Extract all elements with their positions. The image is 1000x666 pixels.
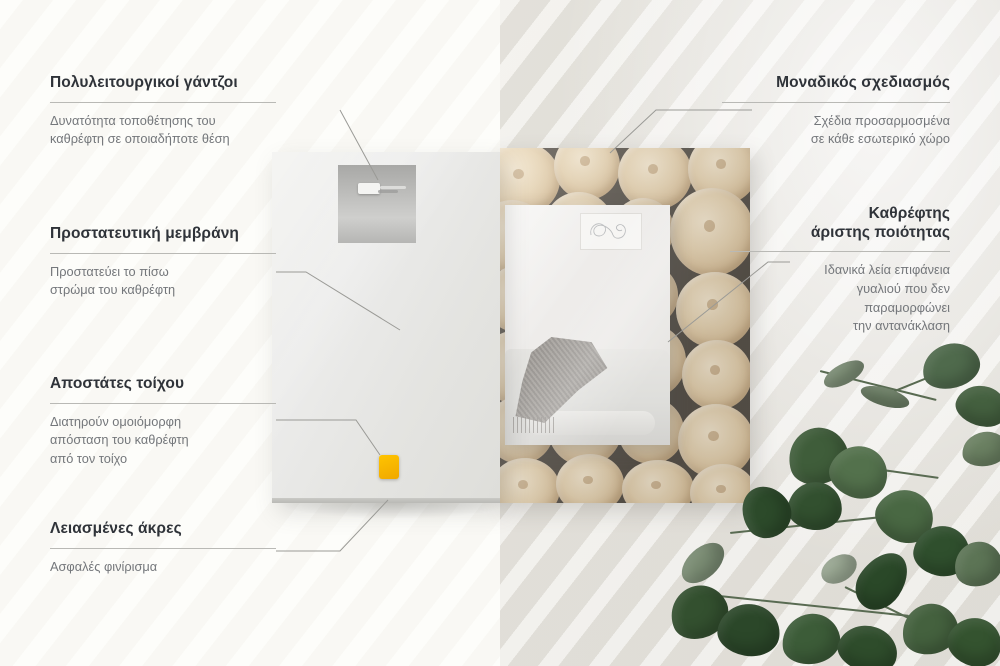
callout-spacers: Αποστάτες τοίχου Διατηρούν ομοιόμορφη απ…	[50, 375, 276, 469]
callout-quality-line4: την αντανάκλαση	[853, 318, 950, 333]
callout-spacers-line3: από τον τοίχο	[50, 451, 127, 466]
callout-quality-line2: γυαλιού που δεν	[857, 281, 950, 296]
callout-edges-body: Ασφαλές φινίρισμα	[50, 558, 276, 577]
callout-quality-line1: Ιδανικά λεία επιφάνεια	[824, 262, 950, 277]
callout-edges: Λειασμένες άκρες Ασφαλές φινίρισμα	[50, 520, 276, 576]
callout-hooks-line1: Δυνατότητα τοποθέτησης του	[50, 113, 216, 128]
callout-hooks-title: Πολυλειτουργικοί γάντζοι	[50, 74, 276, 93]
callout-hooks-body: Δυνατότητα τοποθέτησης του καθρέφτη σε ο…	[50, 112, 276, 149]
callout-quality: Καθρέφτης άριστης ποιότητας Ιδανικά λεία…	[730, 205, 950, 336]
callout-quality-line3: παραμορφώνει	[864, 300, 950, 315]
callout-design-line2: σε κάθε εσωτερικό χώρο	[811, 131, 950, 146]
callout-design-title: Μοναδικός σχεδιασμός	[722, 74, 950, 93]
callout-spacers-body: Διατηρούν ομοιόμορφη απόσταση του καθρέφ…	[50, 413, 276, 469]
mirror-sheen	[505, 205, 670, 445]
callout-edges-line1: Ασφαλές φινίρισμα	[50, 559, 157, 574]
callout-spacers-rule	[50, 403, 276, 404]
callout-membrane-rule	[50, 253, 276, 254]
foliage-decoration	[670, 336, 1000, 666]
callout-membrane-line2: στρώμα του καθρέφτη	[50, 282, 175, 297]
callout-quality-title-line1: Καθρέφτης	[869, 205, 950, 222]
callout-spacers-title: Αποστάτες τοίχου	[50, 375, 276, 394]
callout-membrane-line1: Προστατεύει το πίσω	[50, 264, 169, 279]
panel-drop-shadow	[278, 503, 510, 519]
callout-design-line1: Σχέδια προσαρμοσμένα	[814, 113, 950, 128]
callout-membrane-title: Προστατευτική μεμβράνη	[50, 225, 276, 244]
callout-hooks-rule	[50, 102, 276, 103]
callout-spacers-line2: απόσταση του καθρέφτη	[50, 432, 189, 447]
callout-edges-rule	[50, 548, 276, 549]
callout-design-body: Σχέδια προσαρμοσμένα σε κάθε εσωτερικό χ…	[722, 112, 950, 149]
callout-membrane: Προστατευτική μεμβράνη Προστατεύει το πί…	[50, 225, 276, 300]
callout-quality-body: Ιδανικά λεία επιφάνεια γυαλιού που δεν π…	[730, 261, 950, 336]
hook-detail-plate	[338, 165, 416, 243]
hook-arm-shadow-icon	[378, 190, 398, 193]
hook-arm-icon	[380, 186, 406, 189]
callout-quality-title: Καθρέφτης άριστης ποιότητας	[730, 205, 950, 242]
callout-design-rule	[722, 102, 950, 103]
infographic-canvas: Πολυλειτουργικοί γάντζοι Δυνατότητα τοπο…	[0, 0, 1000, 666]
callout-quality-title-line2: άριστης ποιότητας	[811, 224, 950, 241]
callout-membrane-body: Προστατεύει το πίσω στρώμα του καθρέφτη	[50, 263, 276, 300]
callout-edges-title: Λειασμένες άκρες	[50, 520, 276, 539]
callout-design: Μοναδικός σχεδιασμός Σχέδια προσαρμοσμέν…	[722, 74, 950, 149]
callout-hooks-line2: καθρέφτη σε οποιαδήποτε θέση	[50, 131, 230, 146]
callout-hooks: Πολυλειτουργικοί γάντζοι Δυνατότητα τοπο…	[50, 74, 276, 149]
hook-icon	[358, 183, 380, 194]
wall-spacer-marker	[379, 455, 399, 479]
callout-spacers-line1: Διατηρούν ομοιόμορφη	[50, 414, 181, 429]
callout-quality-rule	[730, 251, 950, 252]
mirror-glass	[505, 205, 670, 445]
